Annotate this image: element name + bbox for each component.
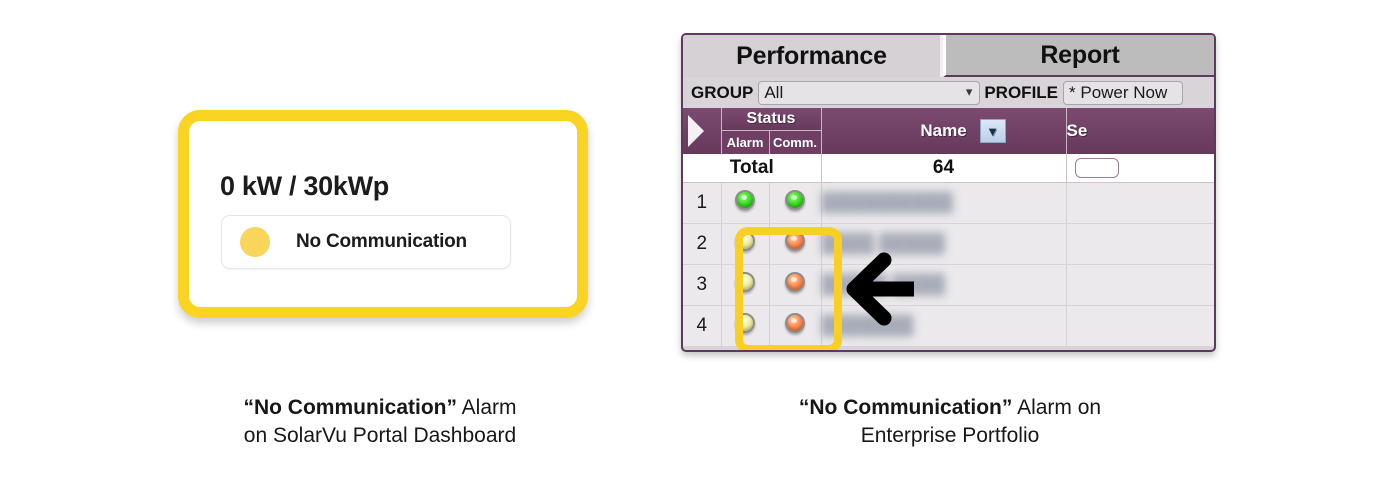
solarvu-dashboard-figure: 0 kW / 30kWp No Communication [178, 110, 588, 318]
alarm-led-yellow-icon [735, 313, 755, 333]
caption-left-line1: “No Communication” Alarm [130, 394, 630, 422]
se-cell [1066, 306, 1216, 347]
profile-filter-select[interactable]: * Power Now [1063, 81, 1183, 105]
tab-performance[interactable]: Performance [683, 35, 943, 77]
table-row[interactable]: 1 ██████████ [683, 183, 1216, 224]
caption-left: “No Communication” Alarm on SolarVu Port… [130, 394, 630, 451]
expand-chevron-icon [686, 114, 708, 148]
caption-left-rest: Alarm [457, 396, 517, 419]
chevron-down-icon: ▾ [966, 84, 973, 100]
total-row: Total 64 [683, 154, 1216, 183]
alarm-status-cell[interactable] [721, 224, 769, 265]
profile-filter-value: * Power Now [1069, 83, 1167, 103]
comm-status-cell[interactable] [769, 265, 821, 306]
caption-left-line2: on SolarVu Portal Dashboard [130, 422, 630, 450]
total-label: Total [683, 154, 821, 183]
table-body: Total 64 1 ██████████ [683, 154, 1216, 347]
row-number: 1 [683, 183, 721, 224]
tab-report[interactable]: Report [943, 35, 1214, 77]
comm-led-orange-icon [785, 231, 805, 251]
table-header: Status Name ▼ Se Alarm Comm. [683, 108, 1216, 154]
alarm-led-yellow-icon [735, 231, 755, 251]
name-header-label: Name [920, 121, 966, 140]
total-se-cell [1066, 154, 1216, 183]
site-name-redacted: ██████████ [822, 192, 954, 213]
row-number-header [683, 108, 721, 154]
total-name-count: 64 [821, 154, 1066, 183]
tab-strip: Performance Report [683, 35, 1214, 77]
caption-right-line2: Enterprise Portfolio [700, 422, 1200, 450]
group-filter-label: GROUP [687, 83, 758, 103]
alarm-status-dot-icon [240, 227, 270, 257]
alarm-status-cell[interactable] [721, 265, 769, 306]
alarm-status-cell[interactable] [721, 306, 769, 347]
name-sort-chevron-down-icon[interactable]: ▼ [980, 119, 1006, 143]
se-cell [1066, 224, 1216, 265]
row-number: 3 [683, 265, 721, 306]
alarm-status-pill[interactable]: No Communication [221, 215, 511, 269]
comm-status-cell[interactable] [769, 224, 821, 265]
group-filter-select[interactable]: All ▾ [758, 81, 980, 105]
enterprise-portfolio-panel: Performance Report GROUP All ▾ PROFILE *… [681, 33, 1216, 352]
caption-right-line1: “No Communication” Alarm on [700, 394, 1200, 422]
filter-bar: GROUP All ▾ PROFILE * Power Now [683, 77, 1214, 108]
alarm-column-header: Alarm [721, 130, 769, 154]
table-row[interactable]: 3 █████ ████ [683, 265, 1216, 306]
table-row[interactable]: 2 ████ █████ [683, 224, 1216, 265]
caption-right-quoted: “No Communication” [799, 396, 1013, 419]
status-group-header: Status [721, 108, 821, 130]
comm-led-orange-icon [785, 272, 805, 292]
solarvu-dashboard-card: 0 kW / 30kWp No Communication [178, 110, 588, 318]
alarm-status-cell[interactable] [721, 183, 769, 224]
row-number: 4 [683, 306, 721, 347]
se-cell [1066, 265, 1216, 306]
caption-left-quoted: “No Communication” [243, 396, 457, 419]
alarm-led-yellow-icon [735, 272, 755, 292]
alarm-status-label: No Communication [296, 231, 467, 253]
caption-right: “No Communication” Alarm on Enterprise P… [700, 394, 1200, 451]
group-filter-value: All [764, 83, 783, 103]
caption-right-rest: Alarm on [1012, 396, 1101, 419]
table-row[interactable]: 4 ███████ [683, 306, 1216, 347]
total-se-input[interactable] [1075, 158, 1119, 178]
portfolio-table: Status Name ▼ Se Alarm Comm. Total 64 [683, 108, 1216, 347]
comm-status-cell[interactable] [769, 306, 821, 347]
enterprise-portfolio-figure: Performance Report GROUP All ▾ PROFILE *… [681, 33, 1216, 352]
site-name-cell[interactable]: ██████████ [821, 183, 1066, 224]
alarm-led-green-icon [735, 190, 755, 210]
comm-led-orange-icon [785, 313, 805, 333]
name-column-header: Name ▼ [821, 108, 1066, 154]
comm-column-header: Comm. [769, 130, 821, 154]
row-number: 2 [683, 224, 721, 265]
power-output-label: 0 kW / 30kWp [220, 171, 389, 202]
comm-led-green-icon [785, 190, 805, 210]
profile-filter-label: PROFILE [980, 83, 1063, 103]
se-column-header: Se [1066, 108, 1216, 154]
callout-arrow-left-icon [840, 248, 922, 330]
se-cell [1066, 183, 1216, 224]
comm-status-cell[interactable] [769, 183, 821, 224]
